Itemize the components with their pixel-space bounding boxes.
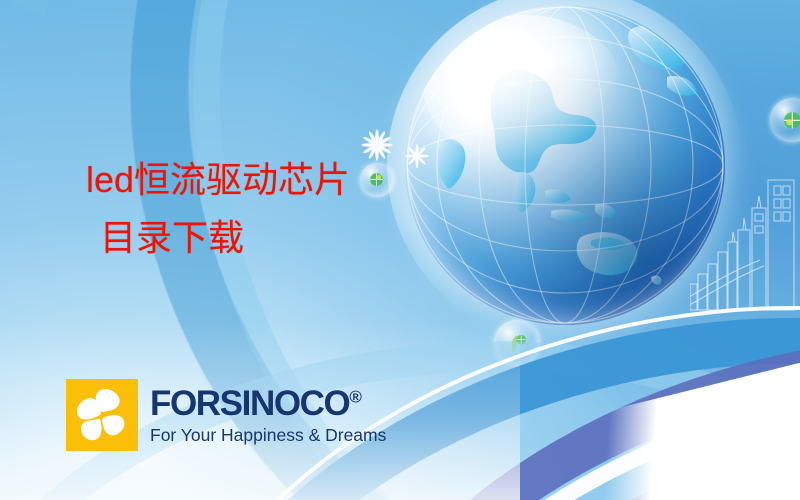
globe-sphere xyxy=(405,5,725,325)
globe-rim-light xyxy=(405,5,725,325)
headline-line-2: 目录下载 xyxy=(100,220,350,256)
brand-name-text: FORSINOCO xyxy=(150,384,349,423)
brand-tagline: For Your Happiness & Dreams xyxy=(150,427,386,445)
forsinoco-pinwheel-mark xyxy=(66,379,138,451)
earth-globe-graphic xyxy=(405,5,725,325)
bubble-globe-icon xyxy=(360,163,394,197)
brand-name: FORSINOCO® xyxy=(150,386,386,421)
promo-banner: led恒流驱动芯片 目录下载 FORSINOCO® For Your Happi… xyxy=(0,0,800,500)
brand-logo[interactable]: FORSINOCO® For Your Happiness & Dreams xyxy=(66,379,386,451)
page-title: led恒流驱动芯片 目录下载 xyxy=(86,162,350,256)
headline-line-1: led恒流驱动芯片 xyxy=(86,162,350,198)
logo-text-block: FORSINOCO® For Your Happiness & Dreams xyxy=(150,386,386,445)
starburst-flower-small xyxy=(404,143,430,174)
registered-trademark-icon: ® xyxy=(349,387,362,406)
starburst-flower-large xyxy=(360,128,394,167)
